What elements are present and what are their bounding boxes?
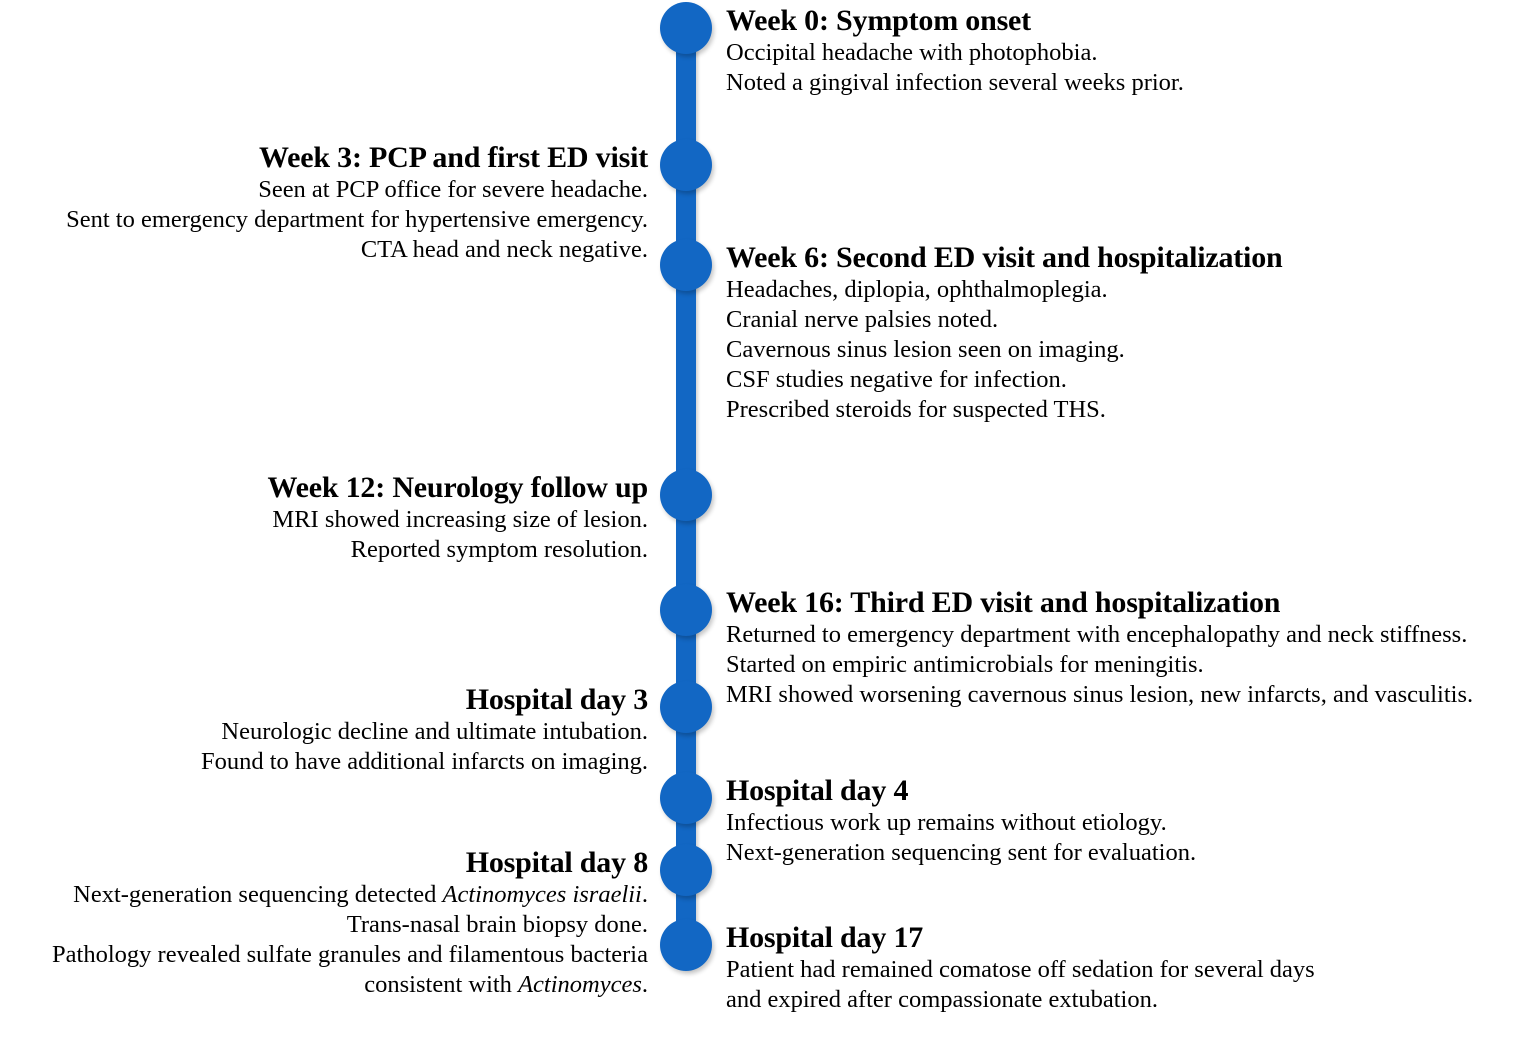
timeline-event-hospital-day-8: Hospital day 8Next-generation sequencing… (52, 846, 648, 1000)
event-detail-line: CSF studies negative for infection. (726, 365, 1282, 395)
event-title: Week 12: Neurology follow up (267, 471, 648, 505)
timeline-node-hospital-day-3 (660, 681, 712, 733)
event-detail-line: Started on empiric antimicrobials for me… (726, 650, 1473, 680)
event-detail-lines: Occipital headache with photophobia.Note… (726, 38, 1184, 98)
event-title: Week 16: Third ED visit and hospitalizat… (726, 586, 1473, 620)
event-title: Week 6: Second ED visit and hospitalizat… (726, 241, 1282, 275)
timeline-event-hospital-day-17: Hospital day 17Patient had remained coma… (726, 921, 1315, 1015)
event-detail-line: Patient had remained comatose off sedati… (726, 955, 1315, 985)
event-detail-line: Sent to emergency department for hyperte… (66, 205, 648, 235)
event-detail-line: Next-generation sequencing sent for eval… (726, 838, 1196, 868)
timeline-node-hospital-day-17 (660, 919, 712, 971)
event-title: Hospital day 17 (726, 921, 1315, 955)
event-detail-line: Returned to emergency department with en… (726, 620, 1473, 650)
event-title: Hospital day 4 (726, 774, 1196, 808)
event-detail-lines: Seen at PCP office for severe headache.S… (66, 175, 648, 265)
event-detail-line: CTA head and neck negative. (66, 235, 648, 265)
timeline-event-week-12: Week 12: Neurology follow upMRI showed i… (267, 471, 648, 565)
timeline-event-hospital-day-4: Hospital day 4Infectious work up remains… (726, 774, 1196, 868)
event-detail-lines: Next-generation sequencing detected Acti… (52, 880, 648, 1000)
timeline-node-week-6 (660, 239, 712, 291)
event-detail-line: and expired after compassionate extubati… (726, 985, 1315, 1015)
timeline-event-hospital-day-3: Hospital day 3Neurologic decline and ult… (201, 683, 648, 777)
event-detail-line: MRI showed increasing size of lesion. (267, 505, 648, 535)
timeline-event-week-6: Week 6: Second ED visit and hospitalizat… (726, 241, 1282, 425)
event-detail-line: consistent with Actinomyces. (52, 970, 648, 1000)
event-title: Hospital day 8 (52, 846, 648, 880)
event-detail-lines: Patient had remained comatose off sedati… (726, 955, 1315, 1015)
event-detail-line: Neurologic decline and ultimate intubati… (201, 717, 648, 747)
event-title: Hospital day 3 (201, 683, 648, 717)
timeline-node-week-3 (660, 139, 712, 191)
timeline-node-week-12 (660, 469, 712, 521)
event-detail-line: Next-generation sequencing detected Acti… (52, 880, 648, 910)
timeline-event-week-3: Week 3: PCP and first ED visitSeen at PC… (66, 141, 648, 265)
event-detail-line: Reported symptom resolution. (267, 535, 648, 565)
event-detail-line: Infectious work up remains without etiol… (726, 808, 1196, 838)
event-detail-line: Cavernous sinus lesion seen on imaging. (726, 335, 1282, 365)
event-detail-line: Pathology revealed sulfate granules and … (52, 940, 648, 970)
timeline-node-hospital-day-8 (660, 844, 712, 896)
event-title: Week 3: PCP and first ED visit (66, 141, 648, 175)
event-detail-line: Prescribed steroids for suspected THS. (726, 395, 1282, 425)
event-detail-line: Headaches, diplopia, ophthalmoplegia. (726, 275, 1282, 305)
event-detail-lines: Headaches, diplopia, ophthalmoplegia.Cra… (726, 275, 1282, 425)
event-detail-line: Noted a gingival infection several weeks… (726, 68, 1184, 98)
event-detail-line: MRI showed worsening cavernous sinus les… (726, 680, 1473, 710)
event-title: Week 0: Symptom onset (726, 4, 1184, 38)
timeline-event-week-16: Week 16: Third ED visit and hospitalizat… (726, 586, 1473, 710)
event-detail-lines: Returned to emergency department with en… (726, 620, 1473, 710)
event-detail-line: Found to have additional infarcts on ima… (201, 747, 648, 777)
event-detail-lines: Neurologic decline and ultimate intubati… (201, 717, 648, 777)
event-detail-line: Cranial nerve palsies noted. (726, 305, 1282, 335)
event-detail-lines: MRI showed increasing size of lesion.Rep… (267, 505, 648, 565)
event-detail-line: Occipital headache with photophobia. (726, 38, 1184, 68)
timeline-event-week-0: Week 0: Symptom onsetOccipital headache … (726, 4, 1184, 98)
event-detail-lines: Infectious work up remains without etiol… (726, 808, 1196, 868)
timeline-node-week-16 (660, 584, 712, 636)
event-detail-line: Trans-nasal brain biopsy done. (52, 910, 648, 940)
timeline-diagram: Week 0: Symptom onsetOccipital headache … (0, 0, 1535, 1042)
event-detail-line: Seen at PCP office for severe headache. (66, 175, 648, 205)
timeline-node-week-0 (660, 2, 712, 54)
timeline-node-hospital-day-4 (660, 772, 712, 824)
